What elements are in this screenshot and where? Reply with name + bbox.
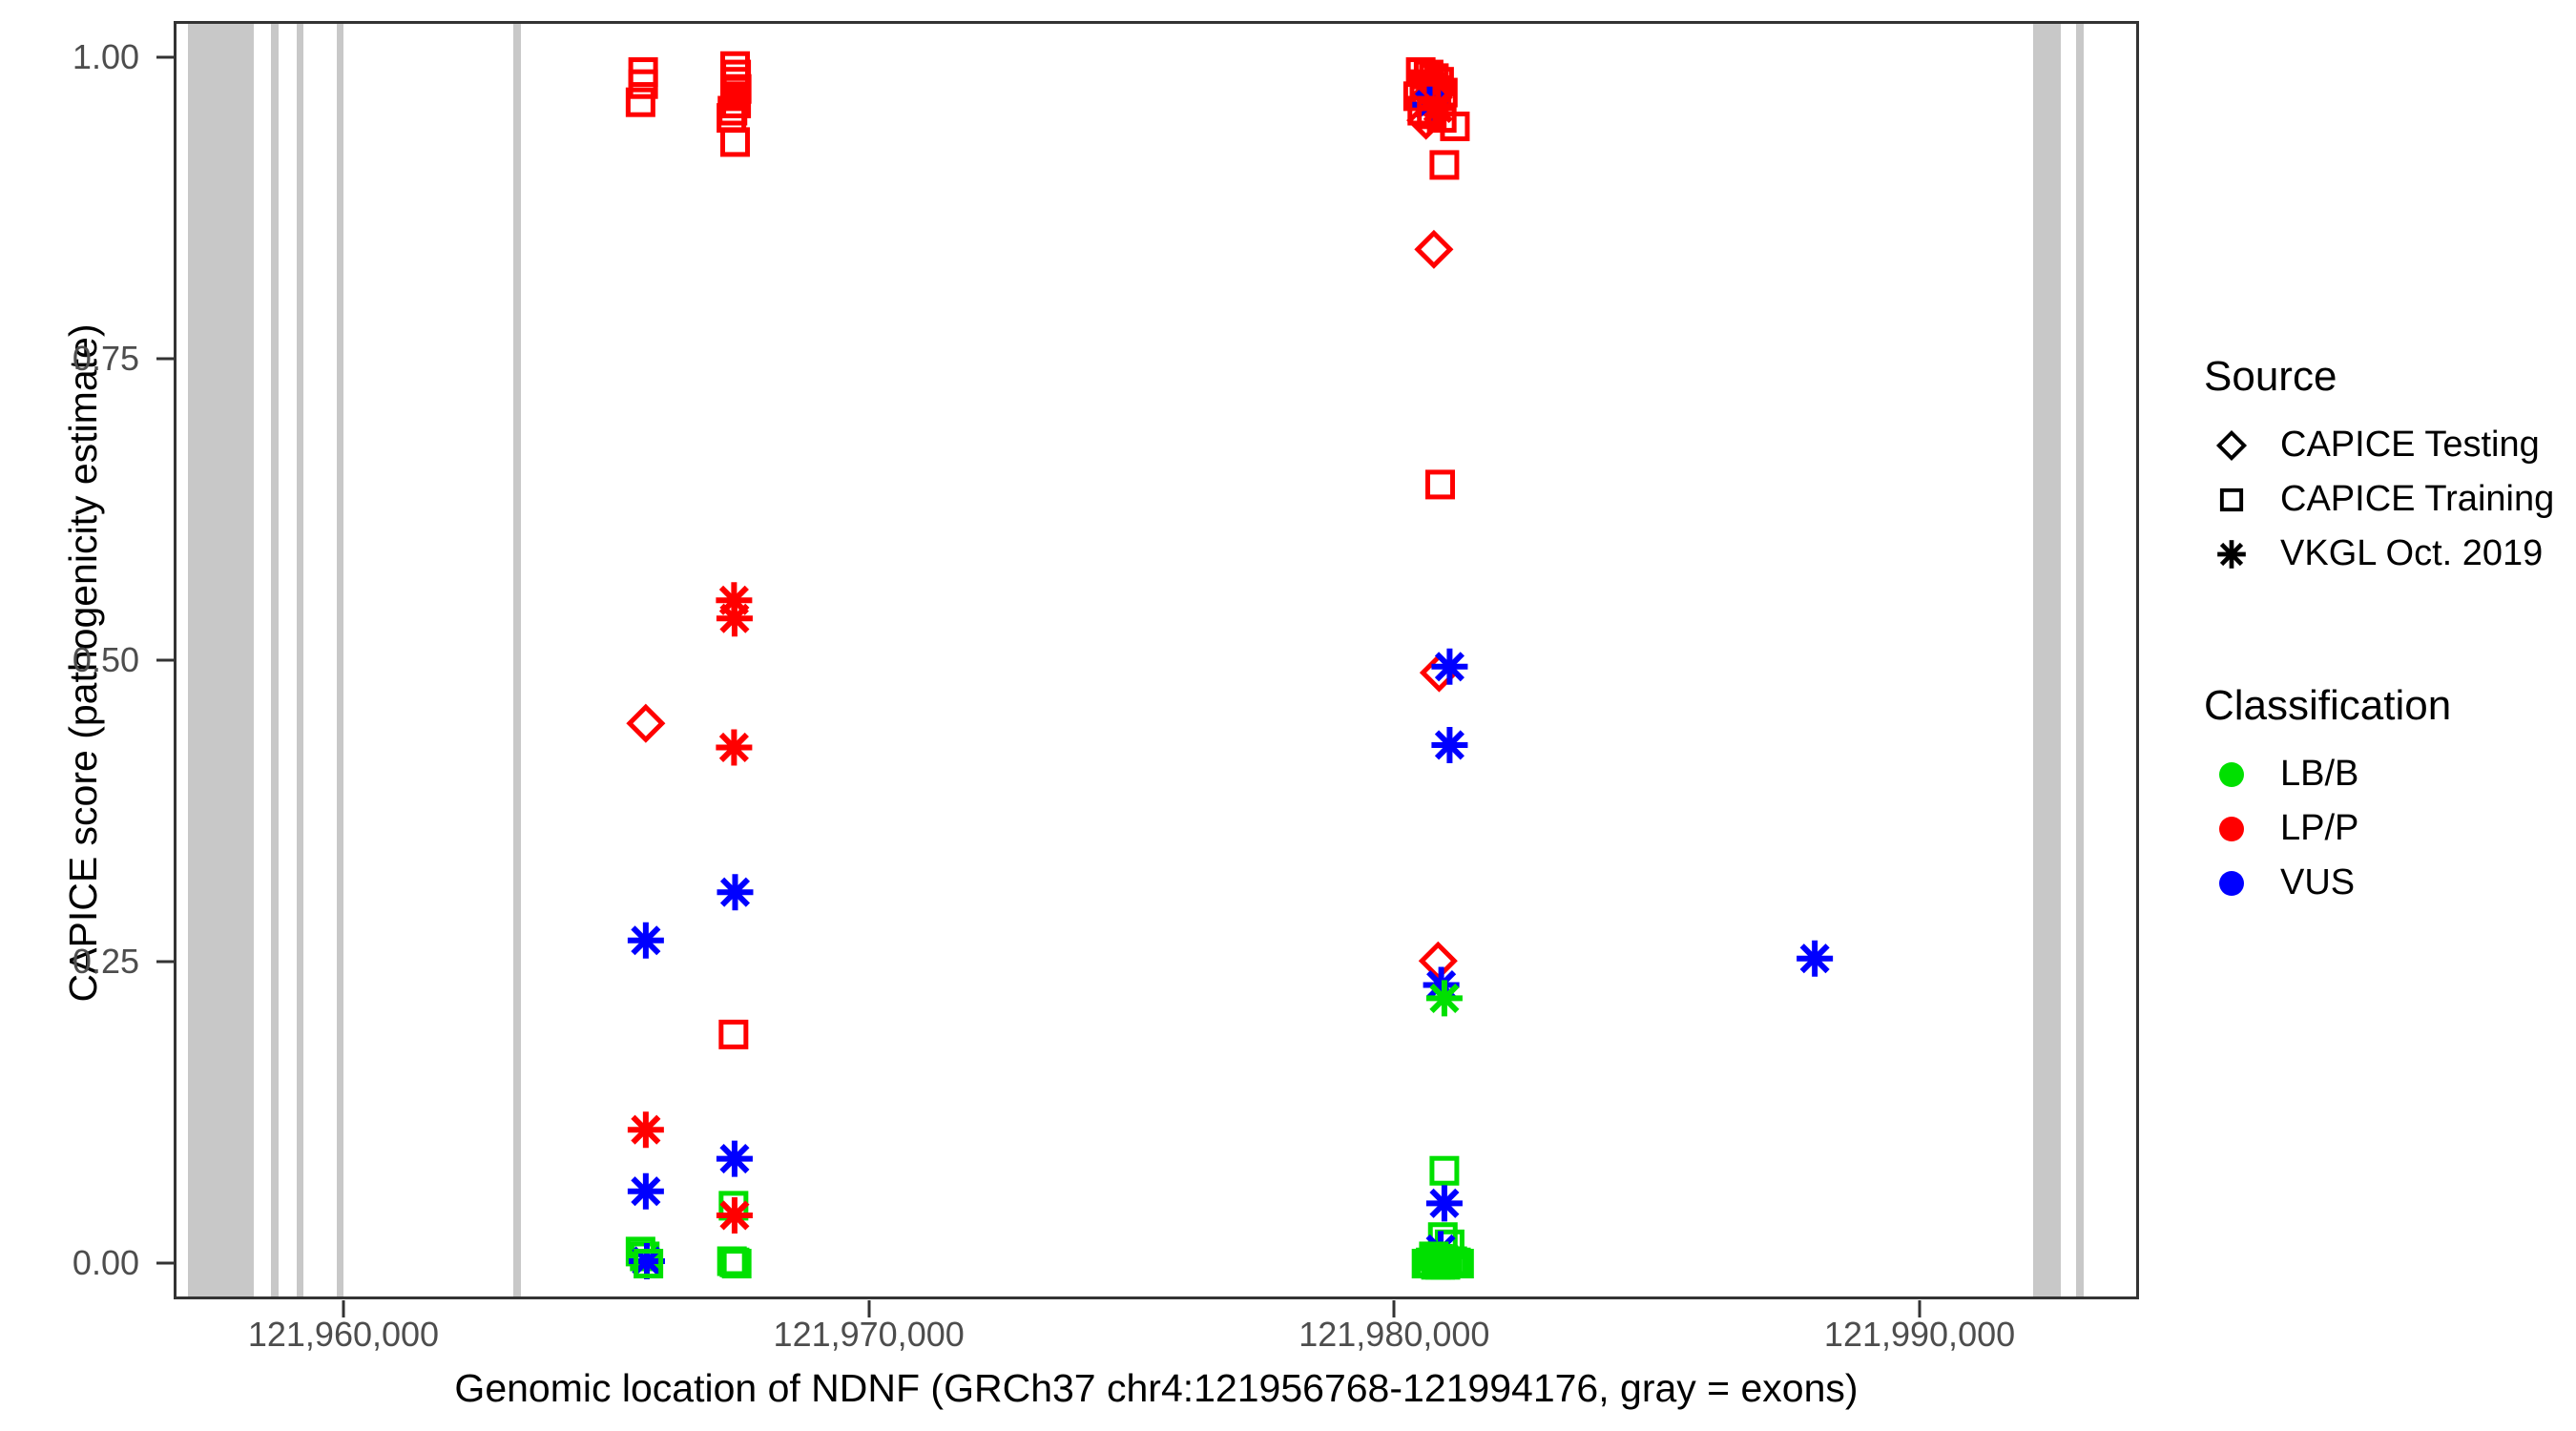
legend-item-label: VKGL Oct. 2019 <box>2280 533 2543 574</box>
y-tick-mark <box>156 55 174 58</box>
x-tick-label: 121,960,000 <box>248 1315 439 1355</box>
color-swatch-icon <box>2204 751 2259 798</box>
data-point <box>1426 980 1463 1016</box>
y-tick-mark <box>156 961 174 964</box>
diamond-marker-icon <box>2204 422 2259 469</box>
legend-item-classification[interactable]: LB/B <box>2204 747 2451 801</box>
legend-item-label: LB/B <box>2280 754 2358 795</box>
legend-source: Source CAPICE TestingCAPICE TrainingVKGL… <box>2204 353 2554 581</box>
asterisk-marker-icon <box>2204 530 2259 578</box>
data-point <box>1431 649 1467 685</box>
data-point <box>717 600 753 636</box>
x-tick-label: 121,970,000 <box>774 1315 965 1355</box>
data-point <box>1426 1185 1463 1221</box>
data-point <box>1428 472 1453 497</box>
legend-item-label: CAPICE Training <box>2280 479 2554 520</box>
data-point <box>722 130 747 155</box>
data-point <box>1797 941 1833 977</box>
data-point <box>717 1197 753 1234</box>
color-swatch-icon <box>2204 860 2259 907</box>
data-point <box>628 1173 664 1210</box>
legend-classification: Classification LB/BLP/PVUS <box>2204 682 2451 910</box>
data-points-layer <box>177 24 2136 1296</box>
data-point <box>628 923 664 959</box>
legend-item-label: LP/P <box>2280 808 2358 849</box>
legend-item-source[interactable]: VKGL Oct. 2019 <box>2204 527 2554 581</box>
x-axis-title: Genomic location of NDNF (GRCh37 chr4:12… <box>174 1366 2139 1411</box>
data-point <box>721 1022 746 1047</box>
y-tick-label: 0.75 <box>73 339 139 379</box>
legend-classification-title: Classification <box>2204 682 2451 730</box>
data-point <box>716 729 752 765</box>
capice-scatter-figure: CAPICE score (pathogenicity estimate) 0.… <box>0 0 2576 1431</box>
color-swatch-icon <box>2204 805 2259 853</box>
data-point <box>1431 727 1467 763</box>
legend-item-classification[interactable]: LP/P <box>2204 801 2451 856</box>
y-tick-label: 0.00 <box>73 1243 139 1283</box>
data-point <box>1432 1158 1457 1183</box>
data-point <box>630 707 662 739</box>
data-point <box>1422 944 1454 977</box>
legend-item-label: CAPICE Testing <box>2280 425 2540 466</box>
y-tick-mark <box>156 357 174 360</box>
legend-item-classification[interactable]: VUS <box>2204 856 2451 910</box>
x-tick-label: 121,980,000 <box>1298 1315 1489 1355</box>
data-point <box>717 874 753 910</box>
data-point <box>628 1111 664 1148</box>
legend-item-source[interactable]: CAPICE Training <box>2204 472 2554 527</box>
y-tick-label: 0.50 <box>73 640 139 680</box>
x-tick-mark <box>342 1300 344 1317</box>
y-tick-mark <box>156 1262 174 1265</box>
x-tick-mark <box>867 1300 870 1317</box>
data-point <box>1432 153 1457 177</box>
data-point <box>717 1141 753 1177</box>
plot-panel <box>174 21 2139 1299</box>
y-axis-ticks: 0.000.250.500.751.00 <box>0 0 139 1431</box>
y-tick-mark <box>156 659 174 662</box>
legend-source-title: Source <box>2204 353 2554 401</box>
legend-item-label: VUS <box>2280 862 2355 903</box>
x-tick-mark <box>1393 1300 1396 1317</box>
square-marker-icon <box>2204 476 2259 524</box>
x-tick-mark <box>1919 1300 1922 1317</box>
legend-item-source[interactable]: CAPICE Testing <box>2204 418 2554 472</box>
data-point <box>1418 233 1450 265</box>
y-tick-label: 0.25 <box>73 942 139 982</box>
x-tick-label: 121,990,000 <box>1824 1315 2015 1355</box>
y-tick-label: 1.00 <box>73 37 139 77</box>
